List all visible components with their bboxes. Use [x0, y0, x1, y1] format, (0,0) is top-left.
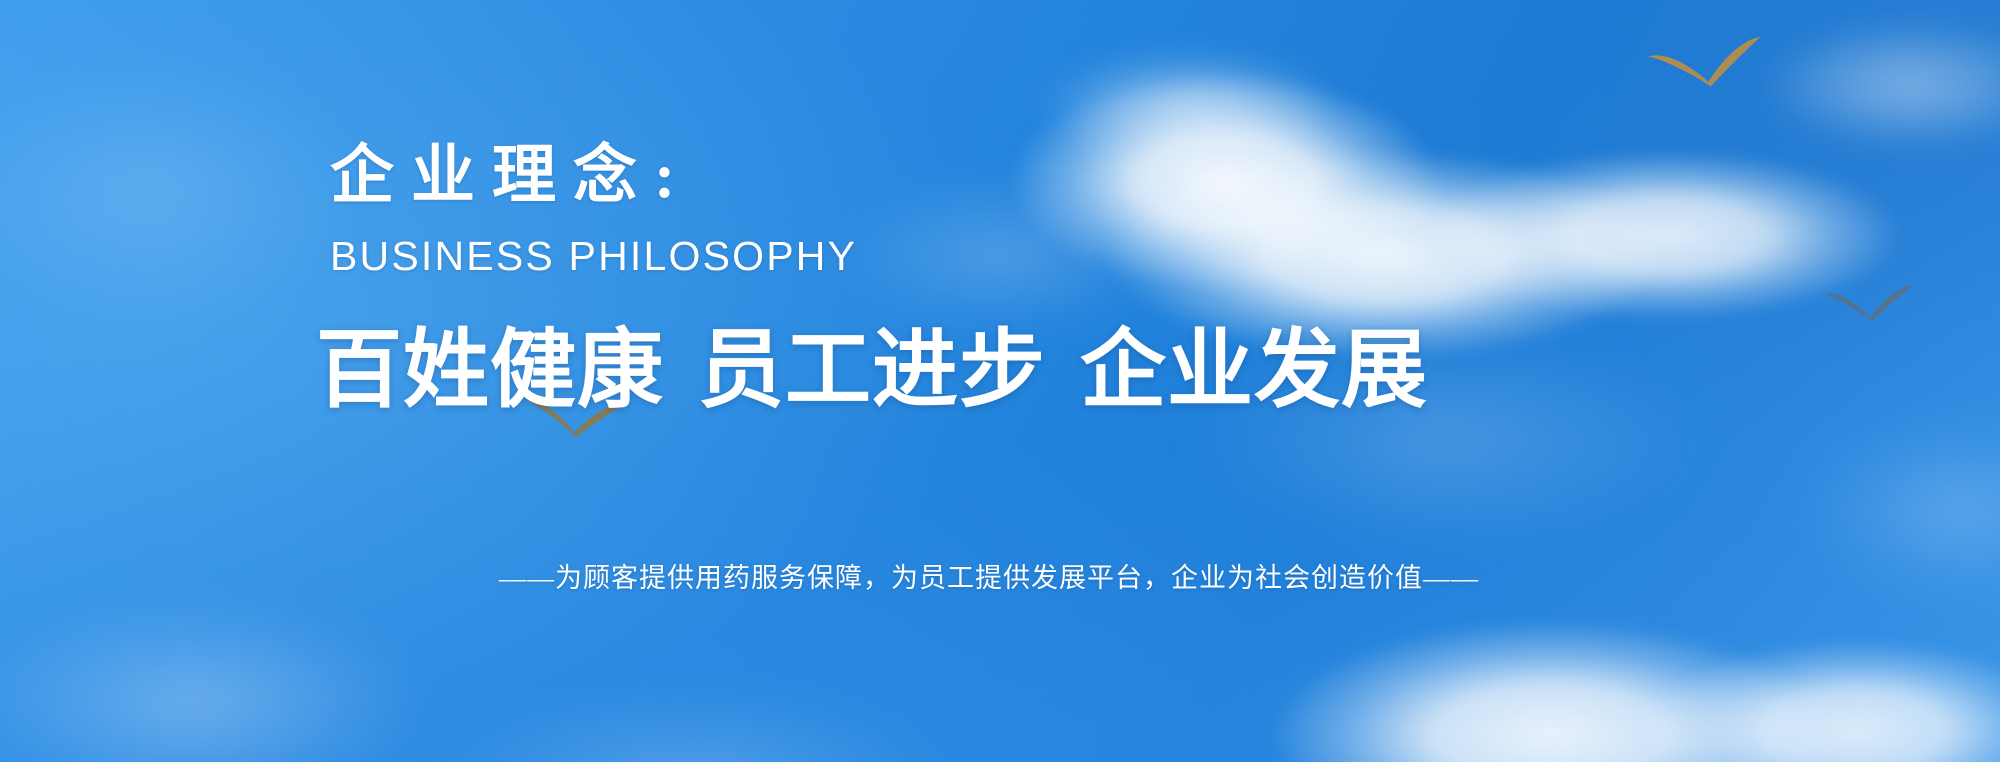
banner-title-english: BUSINESS PHILOSOPHY: [330, 236, 857, 277]
banner-tagline: ——为顾客提供用药服务保障，为员工提供发展平台，企业为社会创造价值——: [499, 556, 1479, 595]
banner-tagline-row: ——为顾客提供用药服务保障，为员工提供发展平台，企业为社会创造价值——: [0, 556, 2000, 595]
banner-title-chinese: 企业理念:: [330, 144, 692, 208]
headline-part-2: 员工进步: [698, 320, 1046, 420]
business-philosophy-banner: 企业理念: BUSINESS PHILOSOPHY 百姓健康员工进步企业发展 —…: [0, 0, 2000, 762]
banner-headline: 百姓健康员工进步企业发展: [316, 327, 1428, 413]
banner-copy: 企业理念: BUSINESS PHILOSOPHY 百姓健康员工进步企业发展 —…: [0, 0, 2000, 762]
headline-part-1: 百姓健康: [316, 320, 664, 420]
headline-part-3: 企业发展: [1080, 320, 1428, 420]
